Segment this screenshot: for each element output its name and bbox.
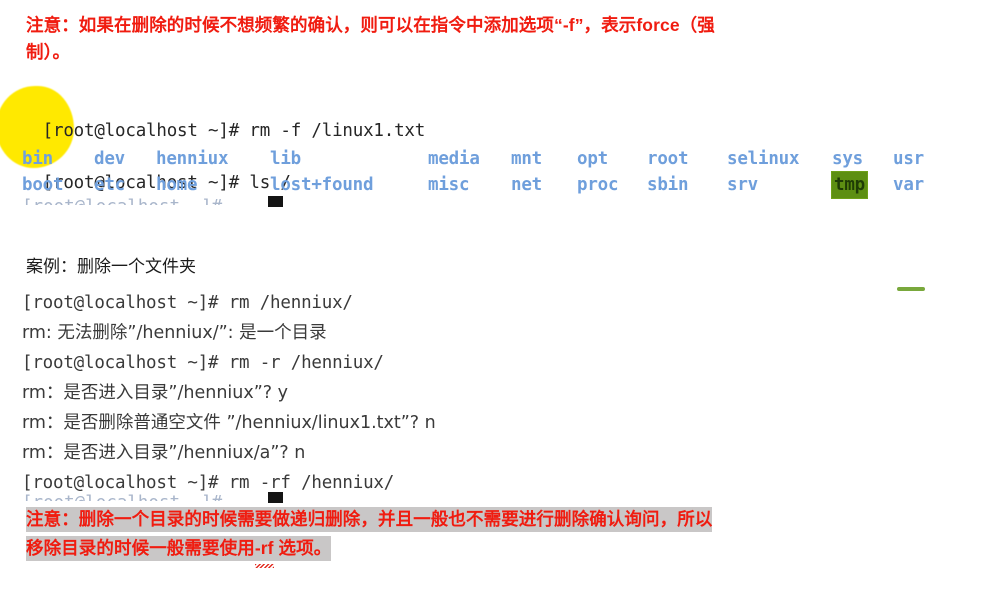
ls-entry-bin: bin	[22, 146, 53, 172]
clipped-terminal-tail: [root@localhost ~]#	[22, 490, 282, 501]
ls-entry-media: media	[428, 146, 480, 172]
note-top-line2: 制）。	[26, 39, 982, 66]
ls-entry-etc: etc	[94, 172, 125, 198]
terminal-cursor-block	[268, 492, 283, 503]
ls-entry-tmp: tmp	[832, 172, 867, 198]
ls-entry-usr: usr	[893, 146, 924, 172]
terminal-line: [root@localhost ~]# rm -r /henniux/	[22, 348, 436, 378]
ls-entry-proc: proc	[577, 172, 618, 198]
ls-entry-lib: lib	[270, 146, 301, 172]
green-pen-dash	[897, 287, 925, 291]
note-top-line1: 注意：如果在删除的时候不想频繁的确认，则可以在指令中添加选项“-f”，表示for…	[26, 12, 982, 39]
note-bottom-line2-c: 选项。	[274, 538, 332, 558]
ls-entry-sys: sys	[832, 146, 863, 172]
terminal-line: [root@localhost ~]# rm -f /linux1.txt	[43, 121, 425, 141]
note-bottom-line1: 注意：删除一个目录的时候需要做递归删除，并且一般也不需要进行删除确认询问，所以	[26, 507, 712, 532]
ls-entry-lost-found: lost+found	[270, 172, 373, 198]
ls-entry-henniux: henniux	[156, 146, 228, 172]
note-bottom-line2: 移除目录的时候一般需要使用-rf 选项。	[26, 536, 331, 561]
terminal-line: rm：是否进入目录”/henniux/a”? n	[22, 438, 436, 468]
ls-entry-var: var	[893, 172, 924, 198]
ls-entry-selinux: selinux	[727, 146, 799, 172]
ls-entry-mnt: mnt	[511, 146, 542, 172]
note-bottom: 注意：删除一个目录的时候需要做递归删除，并且一般也不需要进行删除确认询问，所以 …	[26, 505, 976, 563]
ls-entry-root: root	[647, 146, 688, 172]
ls-entry-dev: dev	[94, 146, 125, 172]
ls-entry-boot: boot	[22, 172, 63, 198]
terminal-low-block: [root@localhost ~]# rm /henniux/rm: 无法删除…	[22, 288, 436, 498]
terminal-line: rm：是否删除普通空文件 ”/henniux/linux1.txt”? n	[22, 408, 436, 438]
note-bottom-line2-a: 移除目录的时候一般需要使用	[26, 538, 255, 558]
terminal-line: rm：是否进入目录”/henniux”? y	[22, 378, 436, 408]
ls-entry-opt: opt	[577, 146, 608, 172]
note-bottom-option-rf: -rf	[255, 534, 274, 563]
terminal-line: rm: 无法删除”/henniux/”: 是一个目录	[22, 318, 436, 348]
case-heading: 案例：删除一个文件夹	[26, 252, 196, 277]
ls-entry-home: home	[156, 172, 197, 198]
ls-entry-net: net	[511, 172, 542, 198]
slide-root: { "slide": { "title": "Linux rm 命令讲解（强制删…	[0, 0, 994, 589]
terminal-line: [root@localhost ~]# rm /henniux/	[22, 288, 436, 318]
ls-entry-srv: srv	[727, 172, 758, 198]
note-top: 注意：如果在删除的时候不想频繁的确认，则可以在指令中添加选项“-f”，表示for…	[26, 12, 982, 66]
ls-entry-sbin: sbin	[647, 172, 688, 198]
ls-entry-misc: misc	[428, 172, 469, 198]
